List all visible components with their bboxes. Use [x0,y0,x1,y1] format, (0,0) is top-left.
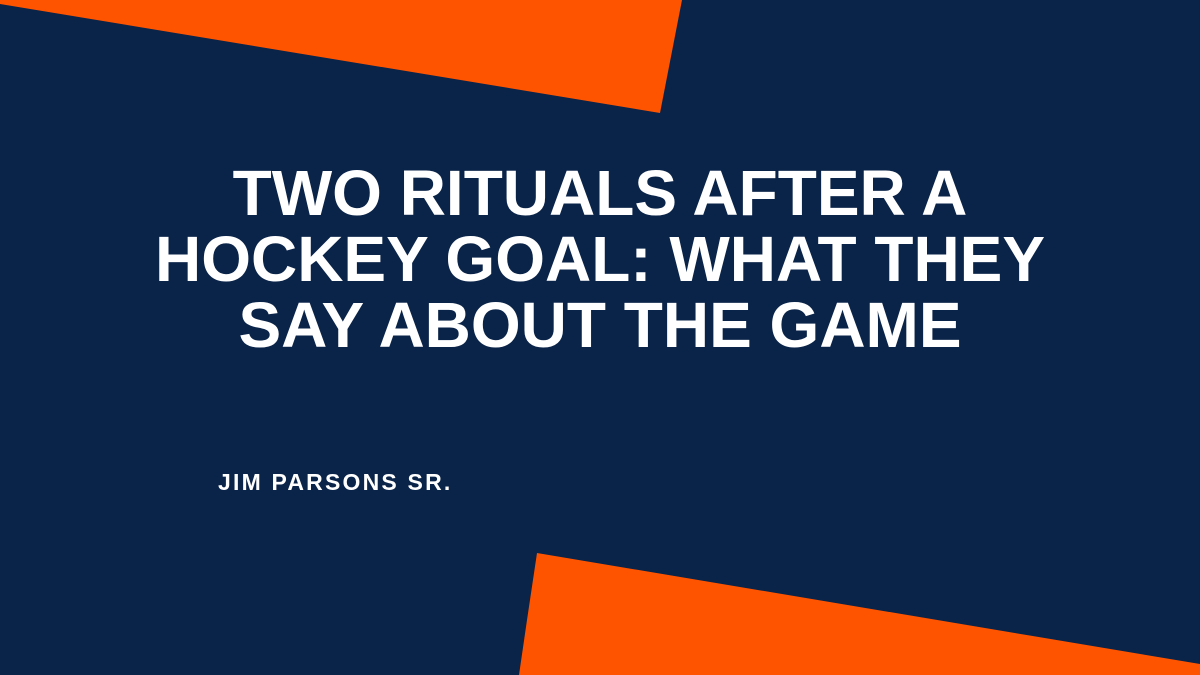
slide-text-block: Two Rituals After a Hockey Goal: What Th… [130,160,1070,358]
slide-title: Two Rituals After a Hockey Goal: What Th… [130,160,1070,358]
title-slide: Two Rituals After a Hockey Goal: What Th… [0,0,1200,675]
slide-subtitle-author: Jim Parsons Sr. [218,468,453,496]
